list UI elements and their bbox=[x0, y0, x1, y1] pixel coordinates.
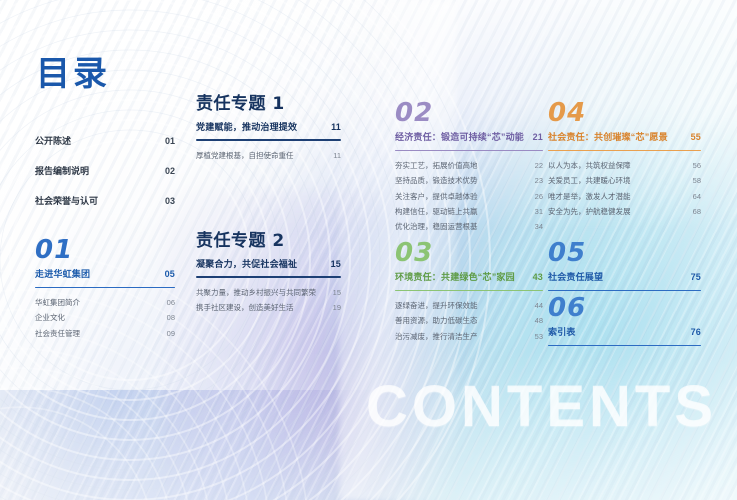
list-item-label: 厚植党建根基，自担使命重任 bbox=[196, 151, 294, 161]
list-item-page: 68 bbox=[687, 207, 701, 217]
list-item-page: 02 bbox=[165, 166, 175, 176]
section-number: 03 bbox=[395, 240, 543, 266]
list-item[interactable]: 关注客户，提供卓越体验 26 bbox=[395, 189, 543, 204]
list-item-label: 社会荣誉与认可 bbox=[35, 194, 98, 207]
list-item-label: 关注客户，提供卓越体验 bbox=[395, 192, 478, 202]
list-item[interactable]: 夯实工艺，拓展价值高地 22 bbox=[395, 158, 543, 173]
section-divider bbox=[395, 290, 543, 292]
list-item-label: 构建信任，驱动链上共赢 bbox=[395, 207, 478, 217]
section-divider bbox=[196, 139, 341, 141]
section-page: 76 bbox=[685, 327, 701, 339]
list-item-page: 22 bbox=[529, 161, 543, 171]
section-heading[interactable]: 走进华虹集团 05 bbox=[35, 269, 175, 281]
section-divider bbox=[548, 150, 701, 152]
section-number: 06 bbox=[548, 295, 701, 321]
section-title: 走进华虹集团 bbox=[35, 269, 90, 281]
list-item-page: 48 bbox=[529, 316, 543, 326]
section-heading[interactable]: 索引表 76 bbox=[548, 327, 701, 339]
list-item-page: 34 bbox=[529, 222, 543, 232]
section-01: 01 走进华虹集团 05 华虹集团简介 06 企业文化 08 社会责任管理 09 bbox=[35, 237, 175, 341]
list-item[interactable]: 优化治理，稳固运营根基 34 bbox=[395, 220, 543, 235]
topic-title: 凝聚合力，共促社会福祉 bbox=[196, 259, 297, 271]
list-item-page: 56 bbox=[687, 161, 701, 171]
list-item-label: 企业文化 bbox=[35, 313, 65, 323]
list-item-page: 06 bbox=[161, 298, 175, 308]
list-item-label: 安全为先，护航稳健发展 bbox=[548, 207, 631, 217]
list-item[interactable]: 社会荣誉与认可 03 bbox=[35, 185, 175, 215]
list-item[interactable]: 逐绿奋进，提升环保效能 44 bbox=[395, 298, 543, 313]
list-item-page: 08 bbox=[161, 313, 175, 323]
topic-title-row[interactable]: 凝聚合力，共促社会福祉 15 bbox=[196, 259, 341, 271]
list-item-page: 31 bbox=[529, 207, 543, 217]
list-item-page: 09 bbox=[161, 329, 175, 339]
list-item[interactable]: 安全为先，护航稳健发展 68 bbox=[548, 204, 701, 219]
list-item[interactable]: 华虹集团简介 06 bbox=[35, 295, 175, 310]
section-title: 社会责任展望 bbox=[548, 272, 603, 284]
list-item[interactable]: 企业文化 08 bbox=[35, 311, 175, 326]
section-heading[interactable]: 社会责任：共创璀璨“芯”愿景 55 bbox=[548, 132, 701, 144]
list-item-page: 58 bbox=[687, 176, 701, 186]
toc-content: 公开陈述 01 报告编制说明 02 社会荣誉与认可 03 01 走进华虹集团 0… bbox=[0, 0, 737, 500]
section-title: 环境责任：共建绿色“芯”家园 bbox=[395, 272, 515, 284]
special-topic-1: 责任专题 1 党建赋能，推动治理提效 11 厚植党建根基，自担使命重任 11 bbox=[196, 95, 341, 163]
list-item-label: 关爱员工，共建暖心环境 bbox=[548, 176, 631, 186]
section-number: 01 bbox=[35, 237, 175, 263]
list-item-label: 公开陈述 bbox=[35, 134, 71, 147]
list-item[interactable]: 携手社区建设，创造美好生活 19 bbox=[196, 300, 341, 315]
section-02: 02 经济责任：锻造可持续“芯”动能 21 夯实工艺，拓展价值高地 22 坚持品… bbox=[395, 100, 543, 235]
list-item-page: 23 bbox=[529, 176, 543, 186]
list-item[interactable]: 报告编制说明 02 bbox=[35, 155, 175, 185]
list-item[interactable]: 以人为本，共筑权益保障 56 bbox=[548, 158, 701, 173]
list-item-page: 19 bbox=[327, 303, 341, 313]
section-title: 经济责任：锻造可持续“芯”动能 bbox=[395, 132, 524, 144]
list-item[interactable]: 关爱员工，共建暖心环境 58 bbox=[548, 174, 701, 189]
list-item[interactable]: 公开陈述 01 bbox=[35, 125, 175, 155]
topic-heading: 责任专题 1 bbox=[196, 95, 341, 114]
topic-page: 11 bbox=[325, 122, 341, 134]
list-item-page: 44 bbox=[529, 301, 543, 311]
section-06: 06 索引表 76 bbox=[548, 295, 701, 353]
list-item-label: 共聚力量，推动乡村振兴与共同繁荣 bbox=[196, 288, 316, 298]
section-number: 05 bbox=[548, 240, 701, 266]
list-item-page: 53 bbox=[529, 332, 543, 342]
list-item-page: 01 bbox=[165, 136, 175, 146]
section-number: 04 bbox=[548, 100, 701, 126]
list-item[interactable]: 唯才是举，激发人才潜能 64 bbox=[548, 189, 701, 204]
section-page: 75 bbox=[685, 272, 701, 284]
topic-heading: 责任专题 2 bbox=[196, 232, 341, 251]
list-item[interactable]: 厚植党建根基，自担使命重任 11 bbox=[196, 148, 341, 163]
front-matter-list: 公开陈述 01 报告编制说明 02 社会荣誉与认可 03 bbox=[35, 125, 175, 215]
list-item[interactable]: 治污减废，推行清洁生产 53 bbox=[395, 329, 543, 344]
topic-page: 15 bbox=[325, 259, 341, 271]
section-number: 02 bbox=[395, 100, 543, 126]
section-divider bbox=[395, 150, 543, 152]
list-item-page: 64 bbox=[687, 192, 701, 202]
section-05: 05 社会责任展望 75 bbox=[548, 240, 701, 298]
section-heading[interactable]: 社会责任展望 75 bbox=[548, 272, 701, 284]
list-item[interactable]: 共聚力量，推动乡村振兴与共同繁荣 15 bbox=[196, 285, 341, 300]
section-title: 社会责任：共创璀璨“芯”愿景 bbox=[548, 132, 668, 144]
list-item-label: 华虹集团简介 bbox=[35, 298, 80, 308]
list-item[interactable]: 构建信任，驱动链上共赢 31 bbox=[395, 204, 543, 219]
list-item-label: 以人为本，共筑权益保障 bbox=[548, 161, 631, 171]
list-item-label: 夯实工艺，拓展价值高地 bbox=[395, 161, 478, 171]
section-page: 43 bbox=[527, 272, 543, 284]
list-item-label: 逐绿奋进，提升环保效能 bbox=[395, 301, 478, 311]
section-divider bbox=[548, 345, 701, 347]
topic-title-row[interactable]: 党建赋能，推动治理提效 11 bbox=[196, 122, 341, 134]
list-item-label: 携手社区建设，创造美好生活 bbox=[196, 303, 294, 313]
list-item-label: 报告编制说明 bbox=[35, 164, 89, 177]
list-item-page: 03 bbox=[165, 196, 175, 206]
list-item[interactable]: 坚持品质，锻造技术优势 23 bbox=[395, 174, 543, 189]
section-title: 索引表 bbox=[548, 327, 576, 339]
section-03: 03 环境责任：共建绿色“芯”家园 43 逐绿奋进，提升环保效能 44 善用资源… bbox=[395, 240, 543, 344]
section-divider bbox=[196, 276, 341, 278]
topic-title: 党建赋能，推动治理提效 bbox=[196, 122, 297, 134]
list-item[interactable]: 善用资源，助力低碳生态 48 bbox=[395, 314, 543, 329]
list-item-label: 治污减废，推行清洁生产 bbox=[395, 332, 478, 342]
section-divider bbox=[35, 287, 175, 289]
section-heading[interactable]: 环境责任：共建绿色“芯”家园 43 bbox=[395, 272, 543, 284]
list-item-page: 11 bbox=[327, 151, 341, 161]
list-item-label: 坚持品质，锻造技术优势 bbox=[395, 176, 478, 186]
section-page: 05 bbox=[159, 269, 175, 281]
list-item-label: 优化治理，稳固运营根基 bbox=[395, 222, 478, 232]
list-item[interactable]: 社会责任管理 09 bbox=[35, 326, 175, 341]
list-item-label: 社会责任管理 bbox=[35, 329, 80, 339]
section-divider bbox=[548, 290, 701, 292]
section-page: 21 bbox=[527, 132, 543, 144]
list-item-page: 26 bbox=[529, 192, 543, 202]
list-item-label: 唯才是举，激发人才潜能 bbox=[548, 192, 631, 202]
special-topic-2: 责任专题 2 凝聚合力，共促社会福祉 15 共聚力量，推动乡村振兴与共同繁荣 1… bbox=[196, 232, 341, 316]
section-04: 04 社会责任：共创璀璨“芯”愿景 55 以人为本，共筑权益保障 56 关爱员工… bbox=[548, 100, 701, 220]
section-page: 55 bbox=[685, 132, 701, 144]
list-item-label: 善用资源，助力低碳生态 bbox=[395, 316, 478, 326]
list-item-page: 15 bbox=[327, 288, 341, 298]
section-heading[interactable]: 经济责任：锻造可持续“芯”动能 21 bbox=[395, 132, 543, 144]
